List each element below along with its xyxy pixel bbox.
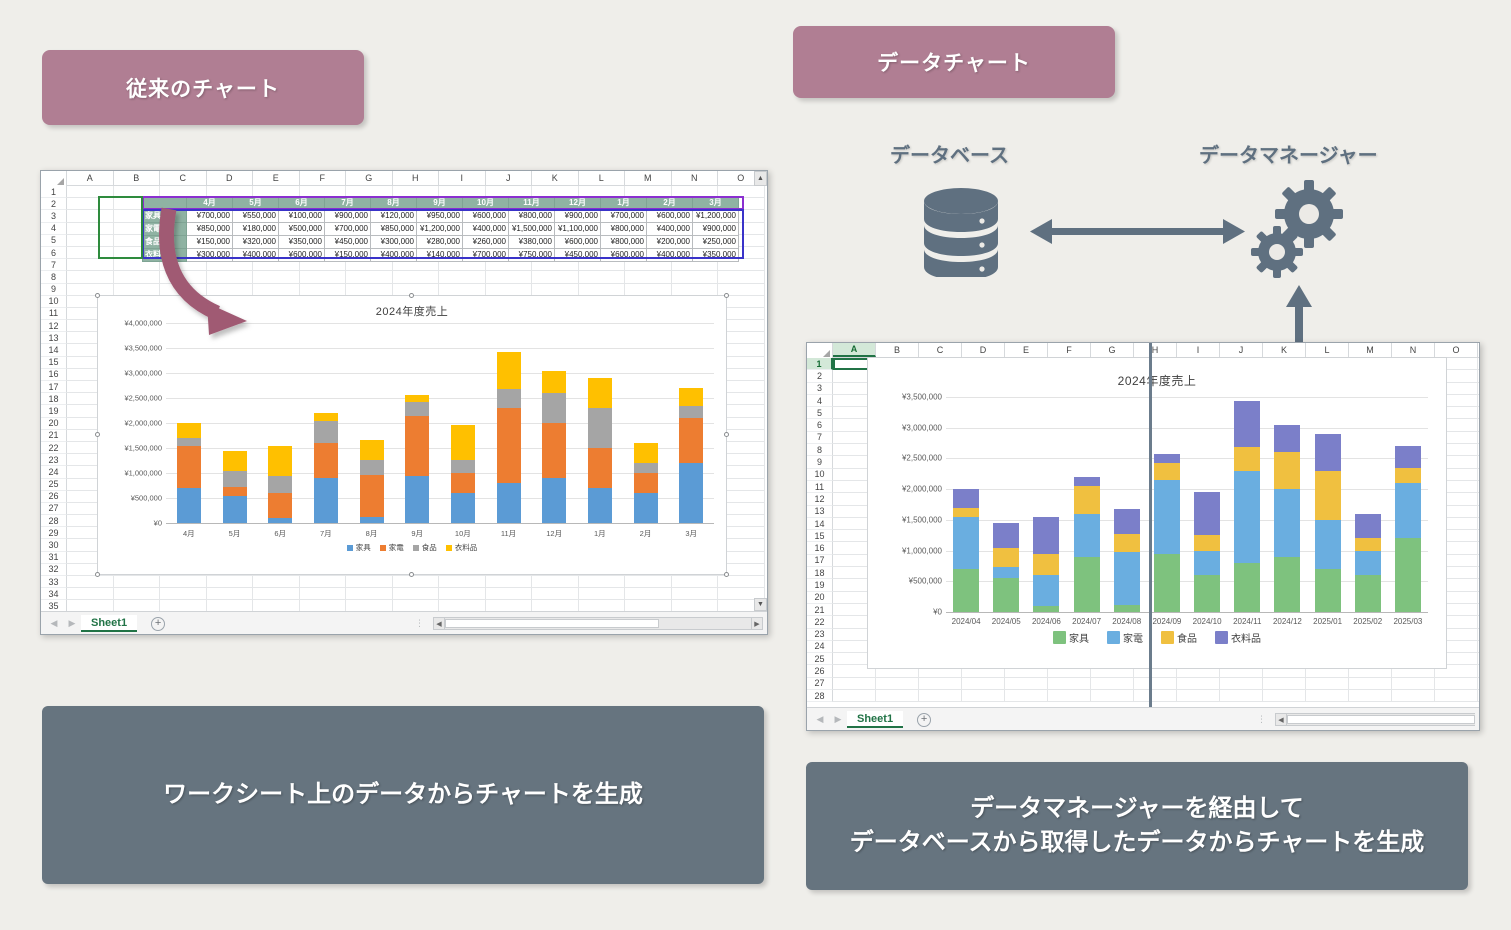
- chart-bar-segment[interactable]: [588, 448, 612, 488]
- chart-bar-segment[interactable]: [314, 421, 338, 444]
- cell-F34[interactable]: [300, 588, 347, 600]
- row-header-18[interactable]: 18: [41, 393, 67, 405]
- chart-bar[interactable]: [1033, 397, 1059, 612]
- cell-I9[interactable]: [439, 284, 486, 296]
- cell-N9[interactable]: [672, 284, 719, 296]
- column-header-row-left[interactable]: ABCDEFGHIJKLMNO: [41, 171, 767, 186]
- chart-bar[interactable]: [497, 323, 521, 523]
- chart-bar[interactable]: [360, 323, 384, 523]
- chart-bar-segment[interactable]: [177, 423, 201, 438]
- table-cell[interactable]: ¥600,000: [463, 210, 509, 223]
- cell-I34[interactable]: [439, 588, 486, 600]
- cell-P8[interactable]: [1478, 444, 1479, 456]
- cell-P12[interactable]: [1478, 493, 1479, 505]
- chart-bar[interactable]: [1395, 397, 1421, 612]
- chart-bar-segment[interactable]: [1114, 552, 1140, 604]
- cell-L35[interactable]: [579, 600, 626, 611]
- cell-D33[interactable]: [207, 576, 254, 588]
- table-cell[interactable]: ¥1,500,000: [509, 223, 555, 236]
- row-header-29[interactable]: 29: [41, 527, 67, 539]
- column-header-row-right[interactable]: ABCDEFGHIJKLMNOPQ: [807, 343, 1479, 358]
- row-header-1[interactable]: 1: [41, 186, 67, 198]
- chart-legend-left[interactable]: 家具家電食品衣料品: [98, 542, 726, 553]
- table-cell[interactable]: ¥380,000: [509, 236, 555, 249]
- chart-bar-segment[interactable]: [993, 523, 1019, 548]
- sheet-prev-button-left[interactable]: ◀: [45, 618, 63, 629]
- chart-bar-segment[interactable]: [1194, 492, 1220, 535]
- sheet-tab-bar-left[interactable]: ◀ ▶ Sheet1 + ⋮ ◀ ▶: [41, 611, 767, 635]
- chart-bar-segment[interactable]: [1154, 454, 1180, 463]
- cell-J34[interactable]: [486, 588, 533, 600]
- chart-resize-handle-mr[interactable]: [724, 432, 729, 437]
- row-header-26[interactable]: 26: [807, 665, 833, 677]
- table-col-header[interactable]: 8月: [371, 197, 417, 210]
- chart-legend-right[interactable]: 家具家電食品衣料品: [868, 630, 1446, 645]
- hscroll-track-left[interactable]: [445, 617, 751, 630]
- chart-resize-handle-br[interactable]: [724, 572, 729, 577]
- table-cell[interactable]: ¥140,000: [417, 249, 463, 262]
- column-header-h[interactable]: H: [393, 171, 440, 185]
- chart-bar-segment[interactable]: [634, 473, 658, 493]
- chart-bar-segment[interactable]: [223, 487, 247, 496]
- cell-D35[interactable]: [207, 600, 254, 611]
- chart-bar[interactable]: [1074, 397, 1100, 612]
- column-header-o[interactable]: O: [1435, 343, 1478, 357]
- table-col-header[interactable]: 2月: [647, 197, 693, 210]
- cell-P3[interactable]: [1478, 383, 1479, 395]
- row-header-9[interactable]: 9: [807, 456, 833, 468]
- table-cell[interactable]: ¥700,000: [325, 223, 371, 236]
- chart-bar-segment[interactable]: [451, 493, 475, 523]
- chart-bar[interactable]: [953, 397, 979, 612]
- cell-M9[interactable]: [625, 284, 672, 296]
- cell-F9[interactable]: [300, 284, 347, 296]
- row-header-10[interactable]: 10: [41, 296, 67, 308]
- row-header-6[interactable]: 6: [807, 419, 833, 431]
- cell-F33[interactable]: [300, 576, 347, 588]
- row-header-16[interactable]: 16: [41, 369, 67, 381]
- table-cell[interactable]: ¥250,000: [693, 236, 739, 249]
- chart-bar-segment[interactable]: [1154, 554, 1180, 612]
- chart-legend-item[interactable]: 家電: [380, 542, 404, 553]
- hscroll-thumb-right[interactable]: [1287, 715, 1475, 724]
- chart-bar-segment[interactable]: [1395, 538, 1421, 612]
- chart-bar[interactable]: [451, 323, 475, 523]
- column-header-n[interactable]: N: [672, 171, 719, 185]
- table-col-header[interactable]: 9月: [417, 197, 463, 210]
- row-header-17[interactable]: 17: [41, 381, 67, 393]
- cell-G34[interactable]: [346, 588, 393, 600]
- cell-F27[interactable]: [1048, 678, 1091, 690]
- cell-C34[interactable]: [160, 588, 207, 600]
- chart-bar-segment[interactable]: [588, 488, 612, 523]
- chart-bar-segment[interactable]: [314, 413, 338, 421]
- chart-bar[interactable]: [1194, 397, 1220, 612]
- row-header-8[interactable]: 8: [41, 271, 67, 283]
- row-header-23[interactable]: 23: [807, 629, 833, 641]
- chart-bar-segment[interactable]: [1274, 489, 1300, 557]
- hscroll-left-button-left[interactable]: ◀: [433, 617, 445, 630]
- chart-bar-segment[interactable]: [1355, 575, 1381, 612]
- chart-bar-segment[interactable]: [1234, 471, 1260, 563]
- chart-bar-segment[interactable]: [588, 378, 612, 408]
- row-header-27[interactable]: 27: [41, 503, 67, 515]
- chart-bar-segment[interactable]: [451, 425, 475, 460]
- chart-bar-segment[interactable]: [1194, 575, 1220, 612]
- table-cell[interactable]: ¥350,000: [279, 236, 325, 249]
- column-header-h[interactable]: H: [1134, 343, 1177, 357]
- cell-E27[interactable]: [1005, 678, 1048, 690]
- chart-bar-segment[interactable]: [1395, 468, 1421, 483]
- chart-bar-segment[interactable]: [1033, 575, 1059, 606]
- cell-N8[interactable]: [672, 271, 719, 283]
- row-header-11[interactable]: 11: [41, 308, 67, 320]
- cell-A33[interactable]: [67, 576, 114, 588]
- chart-bar-segment[interactable]: [360, 475, 384, 518]
- cell-P25[interactable]: [1478, 653, 1479, 665]
- cell-A5[interactable]: [67, 235, 114, 247]
- cell-A1[interactable]: [67, 186, 114, 198]
- row-header-21[interactable]: 21: [41, 430, 67, 442]
- table-cell[interactable]: ¥900,000: [325, 210, 371, 223]
- cell-J8[interactable]: [486, 271, 533, 283]
- cell-A28[interactable]: [833, 690, 876, 702]
- sheet-tab-right[interactable]: Sheet1: [847, 711, 903, 728]
- cell-A7[interactable]: [67, 259, 114, 271]
- cell-P15[interactable]: [1478, 530, 1479, 542]
- horizontal-scrollbar-left[interactable]: ◀ ▶: [433, 617, 763, 630]
- chart-bar-segment[interactable]: [451, 473, 475, 493]
- cell-P23[interactable]: [1478, 629, 1479, 641]
- chart-bar-segment[interactable]: [542, 393, 566, 423]
- worksheet-row[interactable]: 33: [41, 576, 767, 588]
- row-header-25[interactable]: 25: [41, 479, 67, 491]
- data-chart-object[interactable]: 2024年度売上 ¥0¥500,000¥1,000,000¥1,500,000¥…: [867, 357, 1447, 669]
- chart-bar[interactable]: [1274, 397, 1300, 612]
- chart-bar-segment[interactable]: [1315, 434, 1341, 471]
- chart-bar[interactable]: [1355, 397, 1381, 612]
- row-header-2[interactable]: 2: [41, 198, 67, 210]
- column-header-b[interactable]: B: [876, 343, 919, 357]
- cell-G35[interactable]: [346, 600, 393, 611]
- table-cell[interactable]: ¥1,200,000: [417, 223, 463, 236]
- row-header-21[interactable]: 21: [807, 604, 833, 616]
- sheet-next-button-left[interactable]: ▶: [63, 618, 81, 629]
- table-cell[interactable]: ¥600,000: [555, 236, 601, 249]
- column-header-f[interactable]: F: [300, 171, 347, 185]
- cell-G8[interactable]: [346, 271, 393, 283]
- cell-D34[interactable]: [207, 588, 254, 600]
- cell-N28[interactable]: [1392, 690, 1435, 702]
- tabbar-split-handle-right[interactable]: ⋮: [1257, 714, 1267, 725]
- cell-B34[interactable]: [114, 588, 161, 600]
- table-cell[interactable]: ¥400,000: [647, 249, 693, 262]
- table-cell[interactable]: ¥150,000: [325, 249, 371, 262]
- cell-P6[interactable]: [1478, 419, 1479, 431]
- chart-bar[interactable]: [405, 323, 429, 523]
- chart-bar-segment[interactable]: [1274, 425, 1300, 453]
- worksheet-grid-left[interactable]: ABCDEFGHIJKLMNO 123456789101112131415161…: [41, 171, 767, 611]
- vertical-scroll-up-left[interactable]: ▲: [754, 171, 767, 186]
- table-cell[interactable]: ¥1,200,000: [693, 210, 739, 223]
- chart-bar-segment[interactable]: [634, 463, 658, 473]
- table-cell[interactable]: ¥260,000: [463, 236, 509, 249]
- table-col-header[interactable]: 6月: [279, 197, 325, 210]
- cell-P4[interactable]: [1478, 395, 1479, 407]
- row-header-28[interactable]: 28: [807, 690, 833, 702]
- chart-bar-segment[interactable]: [679, 388, 703, 406]
- cell-N33[interactable]: [672, 576, 719, 588]
- chart-bar-segment[interactable]: [993, 578, 1019, 612]
- cell-J27[interactable]: [1220, 678, 1263, 690]
- cell-K35[interactable]: [532, 600, 579, 611]
- row-header-20[interactable]: 20: [807, 592, 833, 604]
- hscroll-thumb-left[interactable]: [445, 619, 659, 628]
- cell-J35[interactable]: [486, 600, 533, 611]
- chart-bar-segment[interactable]: [405, 476, 429, 524]
- row-header-2[interactable]: 2: [807, 370, 833, 382]
- chart-bar-segment[interactable]: [314, 443, 338, 478]
- table-cell[interactable]: ¥800,000: [601, 223, 647, 236]
- cell-F28[interactable]: [1048, 690, 1091, 702]
- row-header-32[interactable]: 32: [41, 564, 67, 576]
- column-header-e[interactable]: E: [253, 171, 300, 185]
- row-header-17[interactable]: 17: [807, 555, 833, 567]
- row-header-7[interactable]: 7: [807, 432, 833, 444]
- worksheet-grid-right[interactable]: ABCDEFGHIJKLMNOPQ 1234567891011121314151…: [807, 343, 1479, 707]
- chart-bar-segment[interactable]: [993, 567, 1019, 578]
- row-header-24[interactable]: 24: [41, 466, 67, 478]
- chart-bar[interactable]: [679, 323, 703, 523]
- chart-bar[interactable]: [1154, 397, 1180, 612]
- row-header-15[interactable]: 15: [807, 530, 833, 542]
- chart-bar-segment[interactable]: [314, 478, 338, 523]
- chart-bar-segment[interactable]: [953, 569, 979, 612]
- chart-legend-item[interactable]: 家電: [1107, 630, 1143, 645]
- cell-O8[interactable]: [718, 271, 765, 283]
- column-header-l[interactable]: L: [579, 171, 626, 185]
- chart-bar-segment[interactable]: [1154, 463, 1180, 480]
- row-header-6[interactable]: 6: [41, 247, 67, 259]
- cell-M34[interactable]: [625, 588, 672, 600]
- cell-F8[interactable]: [300, 271, 347, 283]
- cell-D28[interactable]: [962, 690, 1005, 702]
- chart-bar-segment[interactable]: [177, 446, 201, 489]
- row-header-13[interactable]: 13: [807, 506, 833, 518]
- chart-bar-segment[interactable]: [1114, 509, 1140, 534]
- chart-bar-segment[interactable]: [1114, 605, 1140, 612]
- cell-C33[interactable]: [160, 576, 207, 588]
- worksheet-row[interactable]: 34: [41, 588, 767, 600]
- chart-bar-segment[interactable]: [360, 440, 384, 460]
- row-header-30[interactable]: 30: [41, 539, 67, 551]
- cell-A2[interactable]: [67, 198, 114, 210]
- chart-resize-handle-tc[interactable]: [409, 293, 414, 298]
- chart-bar-segment[interactable]: [1033, 517, 1059, 554]
- row-header-10[interactable]: 10: [807, 469, 833, 481]
- cell-B27[interactable]: [876, 678, 919, 690]
- row-header-5[interactable]: 5: [41, 235, 67, 247]
- chart-bar-segment[interactable]: [1355, 514, 1381, 539]
- cell-H8[interactable]: [393, 271, 440, 283]
- chart-bar-segment[interactable]: [1074, 486, 1100, 514]
- row-header-35[interactable]: 35: [41, 600, 67, 611]
- chart-bar-segment[interactable]: [1274, 452, 1300, 489]
- chart-bar-segment[interactable]: [360, 517, 384, 523]
- cell-O28[interactable]: [1435, 690, 1478, 702]
- hscroll-right-button-left[interactable]: ▶: [751, 617, 763, 630]
- cell-K8[interactable]: [532, 271, 579, 283]
- cell-C27[interactable]: [919, 678, 962, 690]
- chart-bar-segment[interactable]: [634, 493, 658, 523]
- chart-bar-segment[interactable]: [360, 460, 384, 475]
- cell-M27[interactable]: [1349, 678, 1392, 690]
- chart-bar-segment[interactable]: [1194, 535, 1220, 551]
- cell-N34[interactable]: [672, 588, 719, 600]
- chart-bar-segment[interactable]: [268, 476, 292, 494]
- cell-L9[interactable]: [579, 284, 626, 296]
- row-header-13[interactable]: 13: [41, 332, 67, 344]
- sheet-prev-button-right[interactable]: ◀: [811, 714, 829, 725]
- table-cell[interactable]: ¥600,000: [601, 249, 647, 262]
- cell-D27[interactable]: [962, 678, 1005, 690]
- chart-bar-segment[interactable]: [1274, 557, 1300, 612]
- hscroll-track-right[interactable]: [1287, 713, 1475, 726]
- cell-M35[interactable]: [625, 600, 672, 611]
- data-chart-worksheet-window[interactable]: ABCDEFGHIJKLMNOPQ 1234567891011121314151…: [806, 342, 1480, 731]
- row-header-3[interactable]: 3: [807, 383, 833, 395]
- row-header-14[interactable]: 14: [41, 344, 67, 356]
- row-header-25[interactable]: 25: [807, 653, 833, 665]
- chart-bar-segment[interactable]: [679, 418, 703, 463]
- row-header-7[interactable]: 7: [41, 259, 67, 271]
- cell-H35[interactable]: [393, 600, 440, 611]
- chart-resize-handle-bc[interactable]: [409, 572, 414, 577]
- cell-P13[interactable]: [1478, 506, 1479, 518]
- chart-bar-segment[interactable]: [223, 471, 247, 487]
- sheet-next-button-right[interactable]: ▶: [829, 714, 847, 725]
- column-header-k[interactable]: K: [1263, 343, 1306, 357]
- row-header-24[interactable]: 24: [807, 641, 833, 653]
- cell-I33[interactable]: [439, 576, 486, 588]
- cell-L33[interactable]: [579, 576, 626, 588]
- table-cell[interactable]: ¥700,000: [601, 210, 647, 223]
- chart-legend-item[interactable]: 衣料品: [1215, 630, 1261, 645]
- chart-resize-handle-tl[interactable]: [95, 293, 100, 298]
- chart-bar-segment[interactable]: [451, 460, 475, 473]
- chart-bar[interactable]: [314, 323, 338, 523]
- row-header-28[interactable]: 28: [41, 515, 67, 527]
- chart-bar-segment[interactable]: [1033, 554, 1059, 576]
- chart-bar-segment[interactable]: [405, 416, 429, 476]
- column-header-p[interactable]: P: [1478, 343, 1479, 357]
- chart-bar-segment[interactable]: [953, 489, 979, 507]
- cell-J28[interactable]: [1220, 690, 1263, 702]
- cell-A27[interactable]: [833, 678, 876, 690]
- table-cell[interactable]: ¥700,000: [463, 249, 509, 262]
- chart-legend-item[interactable]: 衣料品: [446, 542, 478, 553]
- table-col-header[interactable]: 11月: [509, 197, 555, 210]
- chart-bar-segment[interactable]: [953, 508, 979, 517]
- chart-bar-segment[interactable]: [177, 438, 201, 446]
- chart-bar[interactable]: [223, 323, 247, 523]
- cell-A6[interactable]: [67, 247, 114, 259]
- cell-N35[interactable]: [672, 600, 719, 611]
- column-header-g[interactable]: G: [1091, 343, 1134, 357]
- cell-O27[interactable]: [1435, 678, 1478, 690]
- column-header-c[interactable]: C: [160, 171, 207, 185]
- column-header-n[interactable]: N: [1392, 343, 1435, 357]
- chart-bar-segment[interactable]: [542, 478, 566, 523]
- chart-bar[interactable]: [268, 323, 292, 523]
- chart-bar-segment[interactable]: [993, 548, 1019, 568]
- row-header-15[interactable]: 15: [41, 357, 67, 369]
- cell-B9[interactable]: [114, 284, 161, 296]
- chart-legend-item[interactable]: 家具: [1053, 630, 1089, 645]
- row-header-16[interactable]: 16: [807, 542, 833, 554]
- cell-B35[interactable]: [114, 600, 161, 611]
- cell-J33[interactable]: [486, 576, 533, 588]
- table-cell[interactable]: ¥900,000: [555, 210, 601, 223]
- chart-bar-segment[interactable]: [1355, 551, 1381, 576]
- chart-bar-segment[interactable]: [1074, 557, 1100, 612]
- sheet-tab-bar-right[interactable]: ◀ ▶ Sheet1 + ⋮ ◀: [807, 707, 1479, 731]
- cell-H27[interactable]: [1134, 678, 1177, 690]
- chart-bar-segment[interactable]: [405, 402, 429, 416]
- column-header-d[interactable]: D: [962, 343, 1005, 357]
- chart-bar-segment[interactable]: [1234, 447, 1260, 470]
- chart-bar-segment[interactable]: [634, 443, 658, 463]
- chart-bar-segment[interactable]: [1315, 520, 1341, 569]
- chart-bar-segment[interactable]: [1074, 514, 1100, 557]
- table-cell[interactable]: ¥400,000: [463, 223, 509, 236]
- chart-bar-segment[interactable]: [497, 389, 521, 408]
- cell-P9[interactable]: [1478, 456, 1479, 468]
- cell-G9[interactable]: [346, 284, 393, 296]
- chart-bar-segment[interactable]: [1074, 477, 1100, 486]
- chart-bar-segment[interactable]: [1154, 480, 1180, 554]
- column-header-g[interactable]: G: [346, 171, 393, 185]
- cell-P7[interactable]: [1478, 432, 1479, 444]
- cell-E34[interactable]: [253, 588, 300, 600]
- cell-P22[interactable]: [1478, 616, 1479, 628]
- chart-bar-segment[interactable]: [542, 423, 566, 478]
- chart-bar-segment[interactable]: [223, 496, 247, 524]
- select-all-corner-left[interactable]: [41, 171, 67, 186]
- table-cell[interactable]: ¥300,000: [371, 236, 417, 249]
- chart-bar-segment[interactable]: [1234, 563, 1260, 612]
- chart-bar-segment[interactable]: [497, 408, 521, 483]
- table-cell[interactable]: ¥800,000: [601, 236, 647, 249]
- cell-K28[interactable]: [1263, 690, 1306, 702]
- cell-A35[interactable]: [67, 600, 114, 611]
- cell-G33[interactable]: [346, 576, 393, 588]
- cell-L28[interactable]: [1306, 690, 1349, 702]
- row-header-33[interactable]: 33: [41, 576, 67, 588]
- table-col-header[interactable]: 3月: [693, 197, 739, 210]
- column-header-j[interactable]: J: [486, 171, 533, 185]
- frozen-pane-divider[interactable]: [1149, 343, 1152, 707]
- cell-B8[interactable]: [114, 271, 161, 283]
- table-cell[interactable]: ¥100,000: [279, 210, 325, 223]
- cell-P11[interactable]: [1478, 481, 1479, 493]
- chart-bar-segment[interactable]: [1234, 401, 1260, 447]
- cell-H28[interactable]: [1134, 690, 1177, 702]
- row-header-27[interactable]: 27: [807, 678, 833, 690]
- worksheet-row[interactable]: 27: [807, 678, 1479, 690]
- chart-bar-segment[interactable]: [679, 406, 703, 419]
- cell-C35[interactable]: [160, 600, 207, 611]
